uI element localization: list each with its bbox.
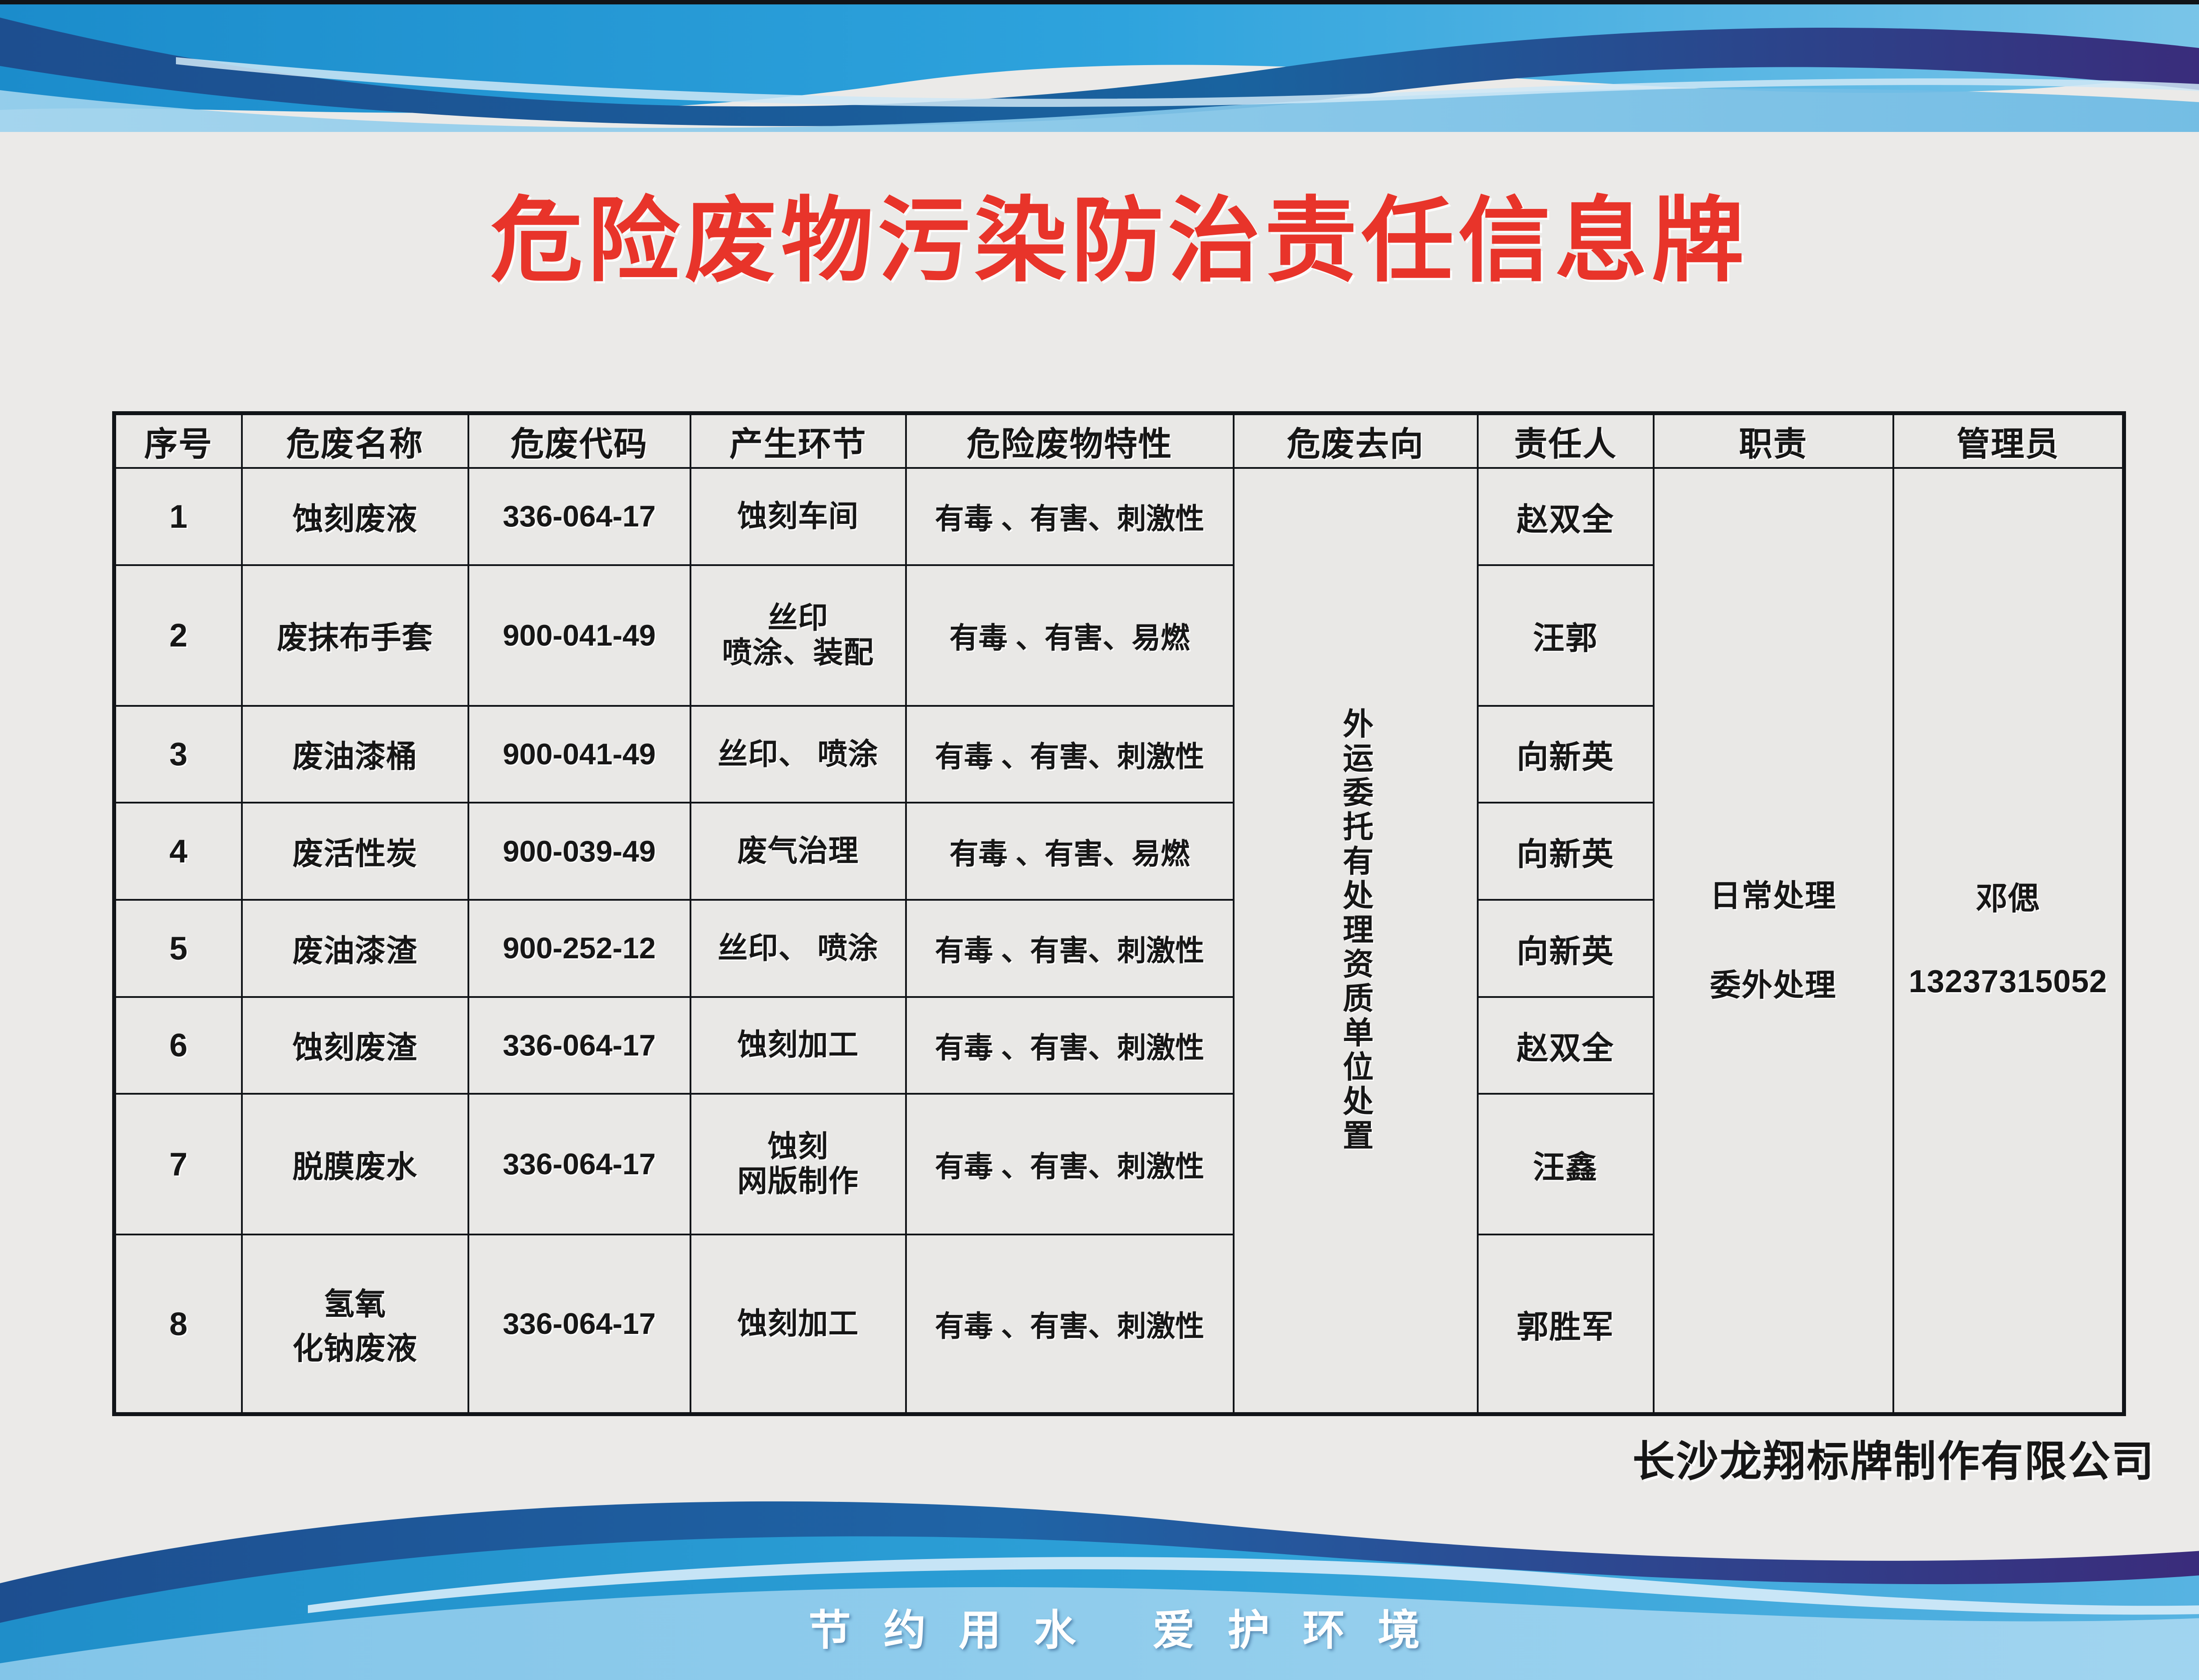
stage-line1: 蚀刻 [694,1129,902,1164]
cell-code: 336-064-17 [468,997,690,1094]
cell-stage: 蚀刻加工 [690,997,906,1094]
cell-index: 6 [114,997,242,1094]
slogan: 节 约 用 水爱 护 环 境 [0,1596,2199,1657]
cell-index: 2 [114,565,242,706]
stage-line1: 丝印、 喷涂 [718,738,878,771]
cell-code: 900-039-49 [468,803,690,900]
cell-stage: 蚀刻车间 [690,468,906,565]
cell-code: 336-064-17 [468,468,690,565]
slogan-left: 节 约 用 水 [808,1607,1086,1654]
cell-index: 3 [114,706,242,803]
cell-stage: 丝印、 喷涂 [690,706,906,803]
header-index: 序号 [114,413,242,468]
cell-property: 有毒 、有害、刺激性 [906,1234,1234,1414]
top-wave-banner [0,0,2199,132]
cell-person: 向新英 [1478,900,1654,997]
header-manager: 管理员 [1893,413,2124,468]
cell-property: 有毒 、有害、刺激性 [906,900,1234,997]
destination-vertical-text: 外运委托有处理资质单位处置 [1337,708,1374,1174]
cell-stage: 蚀刻加工 [690,1234,906,1414]
cell-person: 汪鑫 [1478,1094,1654,1234]
header-duty: 职责 [1654,413,1893,468]
manager-name: 邓偲 [1897,858,2120,940]
cell-person: 郭胜军 [1478,1234,1654,1414]
company-name: 长沙龙翔标牌制作有限公司 [0,1427,2155,1488]
cell-name: 蚀刻废液 [242,468,468,565]
duty-line-2: 委外处理 [1657,941,1890,1030]
stage-line2: 网版制作 [694,1164,902,1199]
cell-property: 有毒 、有害、刺激性 [906,1094,1234,1234]
stage-line1: 废气治理 [737,834,858,868]
cell-name: 废油漆渣 [242,900,468,997]
cell-manager: 邓偲 13237315052 [1893,468,2124,1414]
cell-stage: 丝印 喷涂、装配 [690,565,906,706]
cell-code: 900-252-12 [468,900,690,997]
page-title: 危险废物污染防治责任信息牌 [0,189,2199,292]
header-property: 危险废物特性 [906,413,1234,468]
header-destination: 危废去向 [1234,413,1478,468]
cell-index: 4 [114,803,242,900]
cell-index: 7 [114,1094,242,1234]
cell-index: 5 [114,900,242,997]
stage-line1: 蚀刻车间 [737,500,858,533]
cell-property: 有毒 、有害、易燃 [906,565,1234,706]
top-black-edge [0,0,2199,4]
cell-stage: 蚀刻 网版制作 [690,1094,906,1234]
cell-person: 赵双全 [1478,997,1654,1094]
cell-code: 900-041-49 [468,706,690,803]
cell-name: 废抹布手套 [242,565,468,706]
stage-line1: 蚀刻加工 [737,1028,858,1062]
cell-name: 脱膜废水 [242,1094,468,1234]
slogan-right: 爱 护 环 境 [1153,1607,1431,1654]
name-line2: 化钠废液 [245,1324,465,1368]
header-code: 危废代码 [468,413,690,468]
cell-name: 蚀刻废渣 [242,997,468,1094]
cell-property: 有毒 、有害、刺激性 [906,468,1234,565]
header-name: 危废名称 [242,413,468,468]
cell-code: 336-064-17 [468,1094,690,1234]
cell-name: 废活性炭 [242,803,468,900]
cell-property: 有毒 、有害、刺激性 [906,997,1234,1094]
cell-person: 向新英 [1478,803,1654,900]
cell-stage: 废气治理 [690,803,906,900]
table-row: 1 蚀刻废液 336-064-17 蚀刻车间 有毒 、有害、刺激性 外运委托有处… [114,468,2124,565]
cell-person: 赵双全 [1478,468,1654,565]
cell-code: 900-041-49 [468,565,690,706]
cell-duty: 日常处理 委外处理 [1654,468,1893,1414]
stage-line1: 丝印、 喷涂 [718,931,878,965]
header-person: 责任人 [1478,413,1654,468]
manager-phone: 13237315052 [1897,941,2120,1023]
cell-person: 汪郭 [1478,565,1654,706]
table-header-row: 序号 危废名称 危废代码 产生环节 危险废物特性 危废去向 责任人 职责 管理员 [114,413,2124,468]
cell-property: 有毒 、有害、刺激性 [906,706,1234,803]
duty-line-1: 日常处理 [1657,851,1890,941]
sign-board: 危险废物污染防治责任信息牌 序号 危废名称 危废代码 产生环节 危险废物特性 危… [0,0,2199,1680]
cell-person: 向新英 [1478,706,1654,803]
cell-index: 8 [114,1234,242,1414]
cell-destination: 外运委托有处理资质单位处置 [1234,468,1478,1414]
cell-index: 1 [114,468,242,565]
header-stage: 产生环节 [690,413,906,468]
name-line1: 氢氧 [245,1279,465,1324]
cell-stage: 丝印、 喷涂 [690,900,906,997]
cell-name: 氢氧 化钠废液 [242,1234,468,1414]
stage-line1: 蚀刻加工 [737,1307,858,1340]
stage-line2: 喷涂、装配 [694,635,902,670]
hazardous-waste-table-wrap: 序号 危废名称 危废代码 产生环节 危险废物特性 危废去向 责任人 职责 管理员… [112,411,2122,1416]
cell-name: 废油漆桶 [242,706,468,803]
cell-code: 336-064-17 [468,1234,690,1414]
hazardous-waste-table: 序号 危废名称 危废代码 产生环节 危险废物特性 危废去向 责任人 职责 管理员… [112,411,2126,1416]
cell-property: 有毒 、有害、易燃 [906,803,1234,900]
stage-line1: 丝印 [694,601,902,635]
